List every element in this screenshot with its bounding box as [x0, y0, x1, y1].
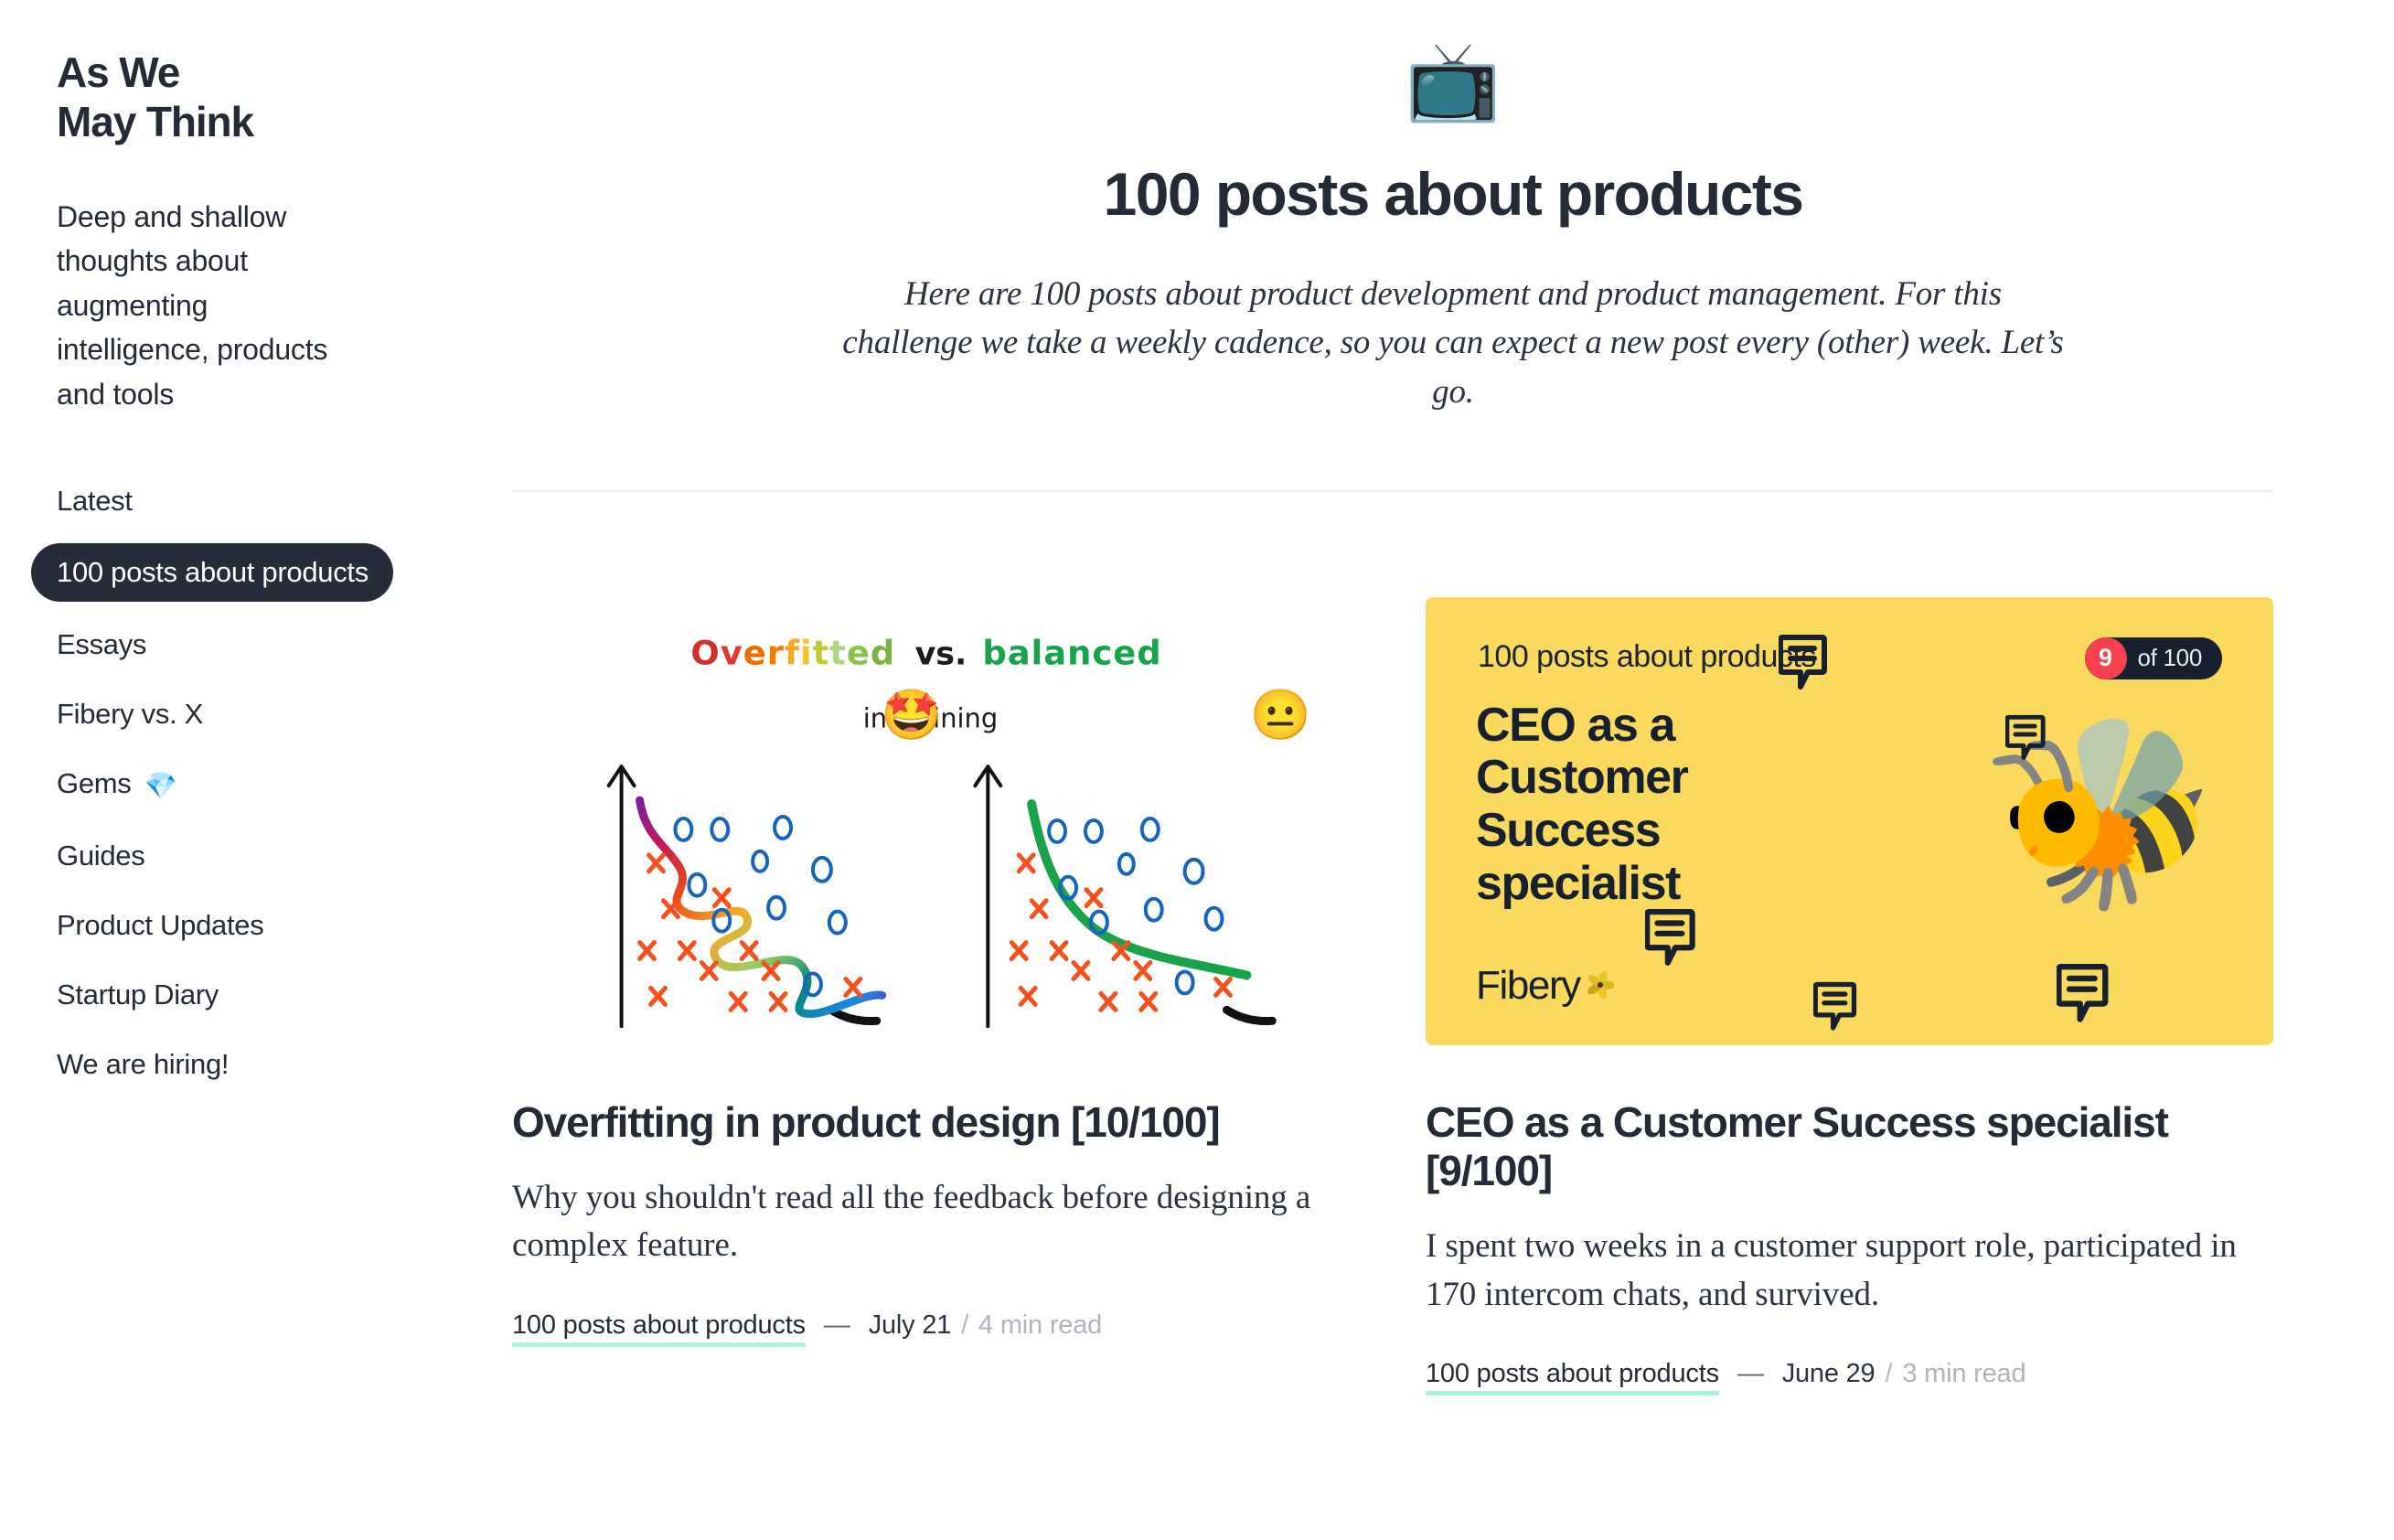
sidebar-item-label: Guides [57, 840, 144, 872]
meta-slash: / [1886, 1359, 1893, 1389]
post-excerpt: Why you shouldn't read all the feedback … [512, 1174, 1360, 1270]
gem-icon: 💎 [144, 772, 176, 801]
page-title: 100 posts about products [631, 161, 2275, 228]
ceo-customer-success-card: 100 posts about products CEO as a Custom… [1426, 597, 2273, 1045]
sidebar-item-guides[interactable]: Guides [57, 829, 144, 882]
post-date: July 21 [869, 1310, 952, 1341]
post-excerpt: I spent two weeks in a customer support … [1426, 1223, 2273, 1319]
chat-bubble-icon [1645, 908, 1700, 970]
illustration-svg: Overfitted vs. balanced in training [512, 597, 1360, 1045]
chat-bubble-icon [1813, 981, 1861, 1034]
sidebar-item-label: Startup Diary [57, 979, 219, 1011]
sidebar-item-fibery-vs-x[interactable]: Fibery vs. X [57, 687, 203, 741]
sidebar-item-product-updates[interactable]: Product Updates [57, 898, 263, 952]
section-divider [512, 490, 2273, 492]
post-title: CEO as a Customer Success specialist [9/… [1426, 1098, 2273, 1196]
svg-text:Overfitted: Overfitted [690, 633, 895, 672]
post-thumbnail[interactable]: 100 posts about products CEO as a Custom… [1426, 597, 2273, 1045]
post-thumbnail[interactable]: Overfitted vs. balanced in training [512, 597, 1360, 1045]
sidebar-item-essays[interactable]: Essays [57, 617, 146, 671]
card-kicker: 100 posts about products [1478, 639, 1816, 675]
television-icon: 📺 [1405, 42, 1502, 119]
star-struck-face-icon: 🤩 [881, 690, 942, 740]
sidebar-nav: Latest 100 posts about products Essays F… [57, 474, 512, 1091]
overfitting-illustration: Overfitted vs. balanced in training [512, 597, 1360, 1045]
post-date: June 29 [1782, 1359, 1876, 1389]
chat-bubble-icon [2057, 963, 2113, 1027]
svg-text:balanced: balanced [982, 633, 1161, 672]
sidebar-item-label: Essays [57, 628, 146, 660]
sidebar-item-gems[interactable]: Gems💎 [57, 756, 176, 813]
sidebar-item-100-posts-about-products[interactable]: 100 posts about products [31, 543, 393, 602]
meta-separator: — [1737, 1359, 1764, 1389]
fibery-wordmark: Fibery [1476, 963, 1580, 1009]
post-tag-link[interactable]: 100 posts about products [512, 1310, 806, 1347]
post-meta: 100 posts about products — June 29 / 3 m… [1426, 1359, 2273, 1396]
svg-text:vs.: vs. [915, 636, 967, 672]
card-headline: CEO as a Customer Success specialist [1476, 700, 1688, 911]
chat-bubble-icon [2005, 714, 2049, 764]
sidebar-item-we-are-hiring[interactable]: We are hiring! [57, 1037, 229, 1091]
post-card[interactable]: 100 posts about products CEO as a Custom… [1426, 597, 2273, 1396]
masthead: 📺 100 posts about products Here are 100 … [512, 0, 2394, 417]
post-grid: Overfitted vs. balanced in training [512, 597, 2394, 1396]
sidebar-item-label: Product Updates [57, 909, 263, 941]
sidebar-item-latest[interactable]: Latest [57, 474, 133, 528]
post-title: Overfitting in product design [10/100] [512, 1098, 1360, 1147]
chat-bubble-icon [1779, 634, 1832, 694]
sidebar-item-label: Latest [57, 485, 133, 517]
post-card[interactable]: Overfitted vs. balanced in training [512, 597, 1360, 1396]
meta-slash: / [961, 1310, 968, 1341]
counter-number: 9 [2085, 637, 2127, 679]
sidebar-item-label: Gems [57, 767, 131, 799]
post-meta: 100 posts about products — July 21 / 4 m… [512, 1310, 1360, 1347]
post-counter-badge: 9 of 100 [2085, 637, 2223, 679]
fibery-logo: Fibery [1476, 963, 1614, 1009]
neutral-face-icon: 😐 [1249, 690, 1310, 740]
sidebar-item-startup-diary[interactable]: Startup Diary [57, 968, 219, 1021]
main-content: 📺 100 posts about products Here are 100 … [512, 0, 2394, 1540]
sidebar-item-label: 100 posts about products [57, 556, 369, 588]
post-read-time: 3 min read [1902, 1359, 2025, 1389]
sidebar-item-label: We are hiring! [57, 1048, 229, 1080]
meta-separator: — [824, 1310, 850, 1341]
post-tag-link[interactable]: 100 posts about products [1426, 1359, 1719, 1396]
page-subtitle: Here are 100 posts about product develop… [836, 270, 2070, 417]
blog-page: As We May Think Deep and shallow thought… [0, 0, 2394, 1540]
post-read-time: 4 min read [978, 1310, 1102, 1341]
sidebar-item-label: Fibery vs. X [57, 698, 203, 730]
blog-title: As We May Think [57, 48, 512, 147]
blog-description: Deep and shallow thoughts about augmenti… [57, 195, 340, 417]
sidebar: As We May Think Deep and shallow thought… [0, 0, 512, 1540]
counter-total: of 100 [2138, 644, 2203, 672]
fibery-flower-icon [1587, 963, 1614, 1009]
